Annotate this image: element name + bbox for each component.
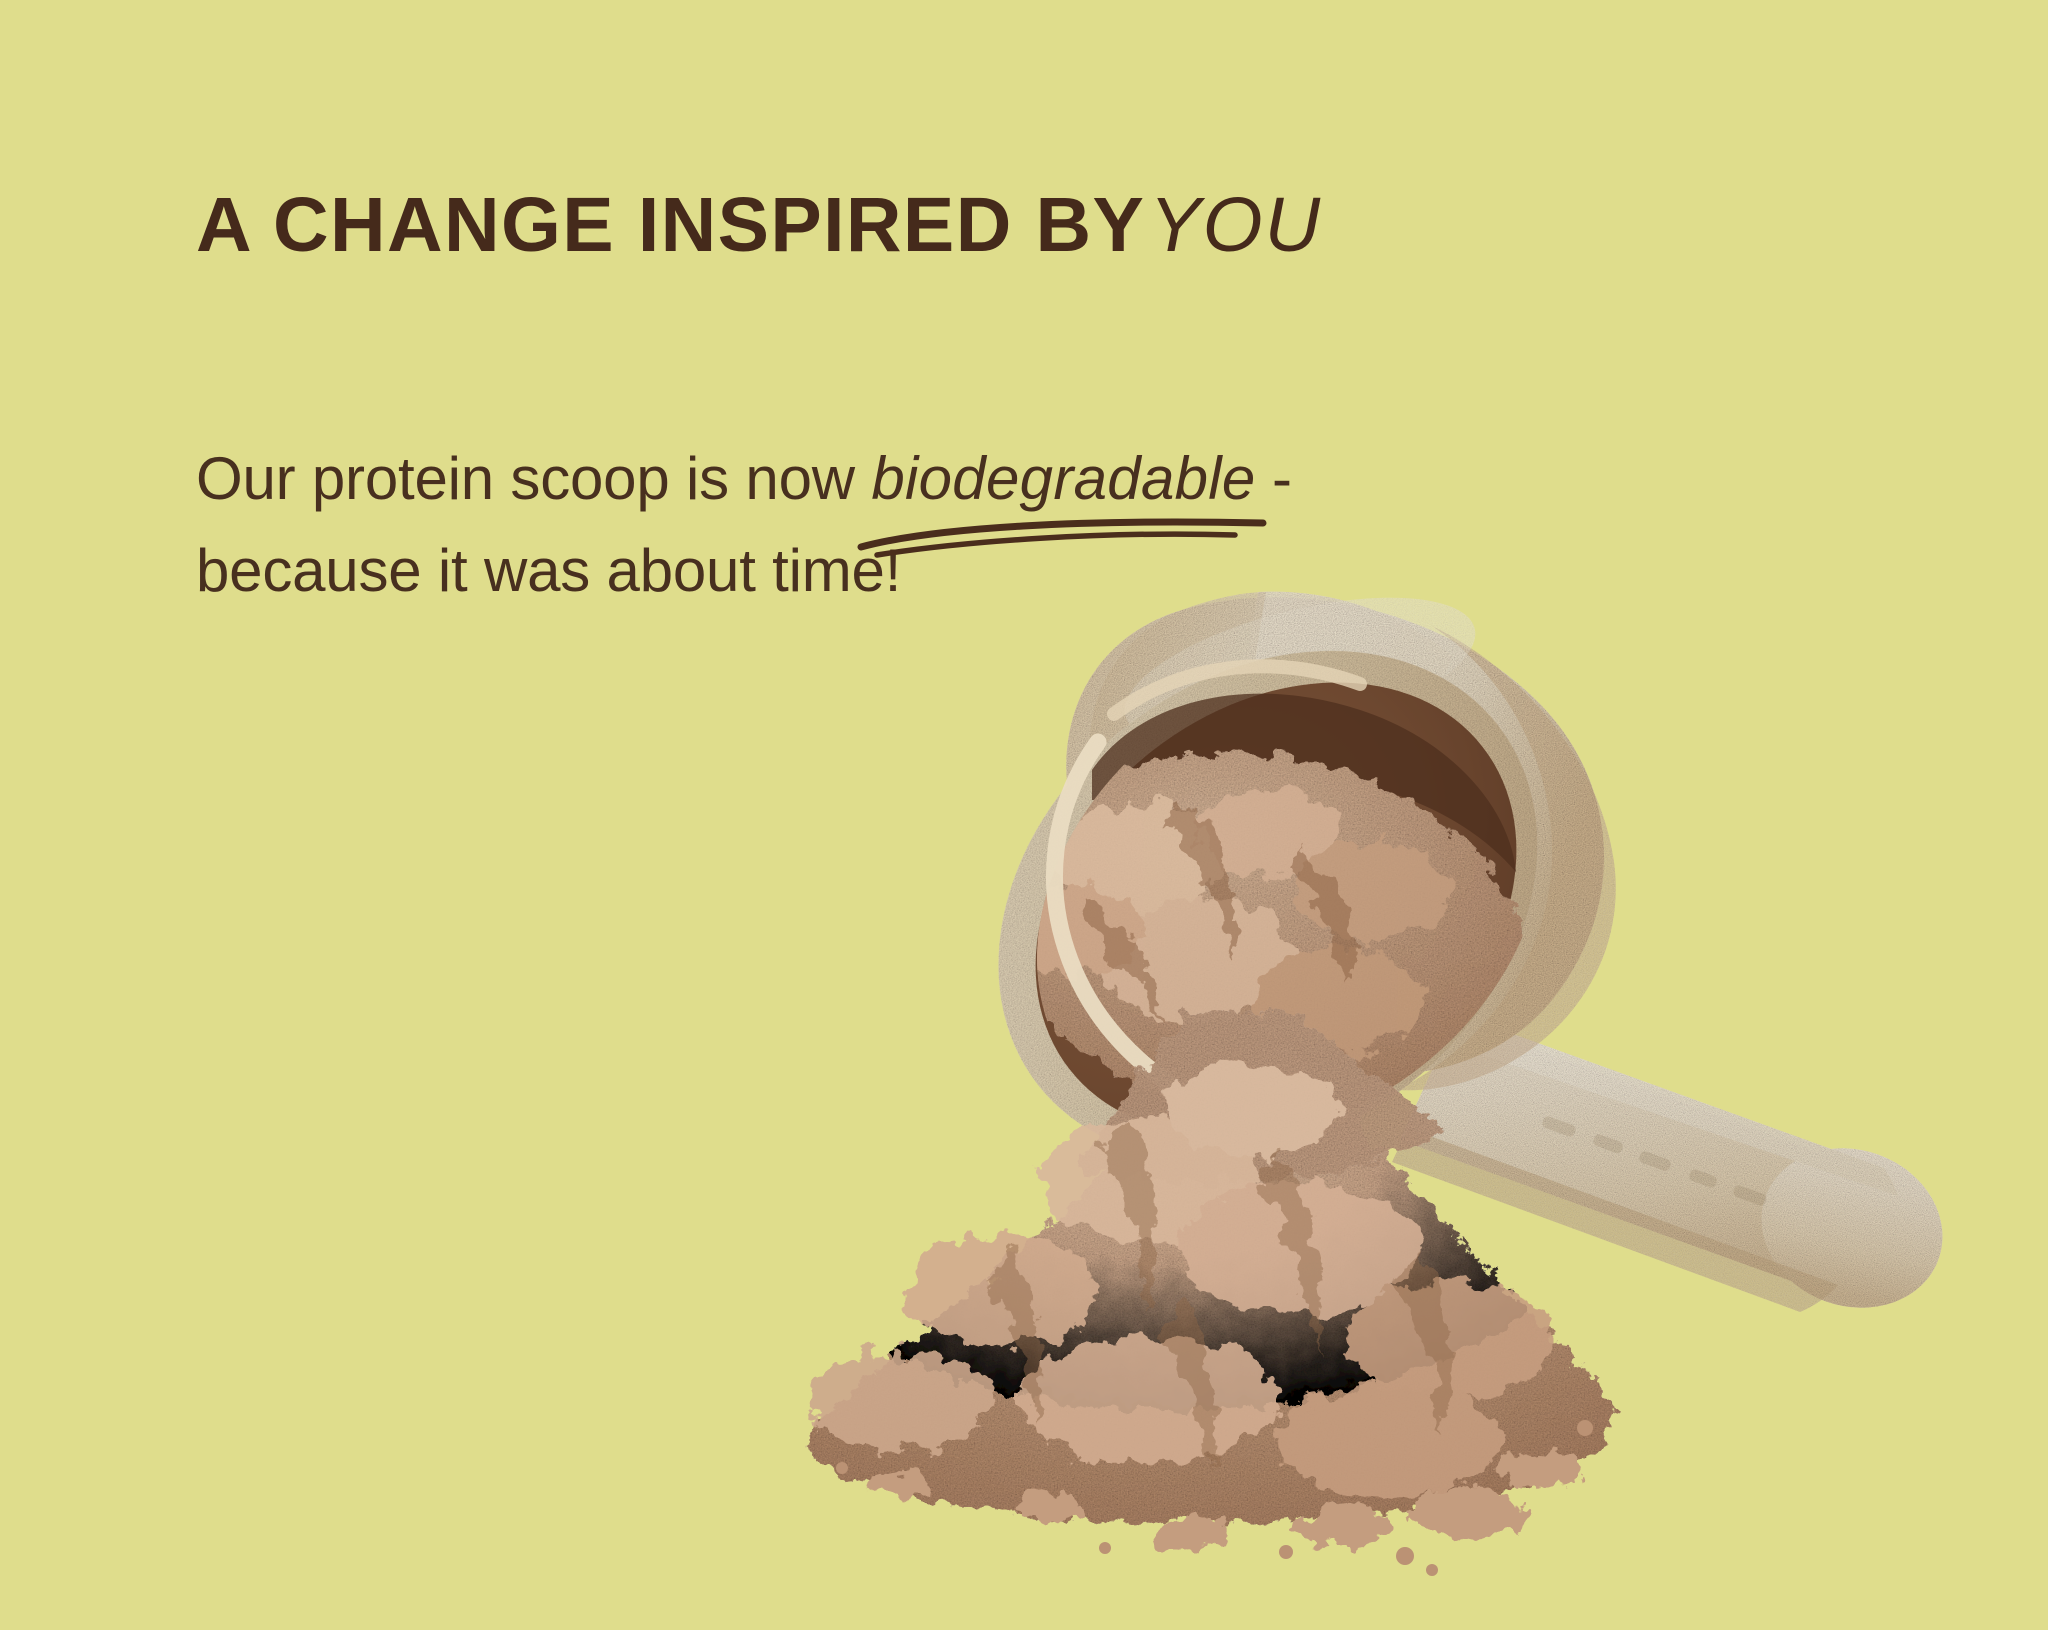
subheadline-trailing-text: - [1256,445,1292,512]
headline-main: A CHANGE INSPIRED BY [196,182,1145,268]
emphasis-word: biodegradable [871,445,1255,512]
subheadline-line-2: because it was about time! [196,525,1446,617]
emphasis-group: biodegradable [871,433,1255,525]
copy-block: A CHANGE INSPIRED BYYOU Our protein scoo… [196,186,1596,617]
promo-banner: A CHANGE INSPIRED BYYOU Our protein scoo… [0,0,2048,1630]
subheadline: Our protein scoop is now biodegradable -… [196,265,1446,617]
subheadline-lead-text: Our protein scoop is now [196,445,871,512]
page-title: A CHANGE INSPIRED BYYOU [196,186,1596,265]
headline-accent: YOU [1149,182,1322,268]
subheadline-line-1: Our protein scoop is now biodegradable - [196,433,1446,525]
